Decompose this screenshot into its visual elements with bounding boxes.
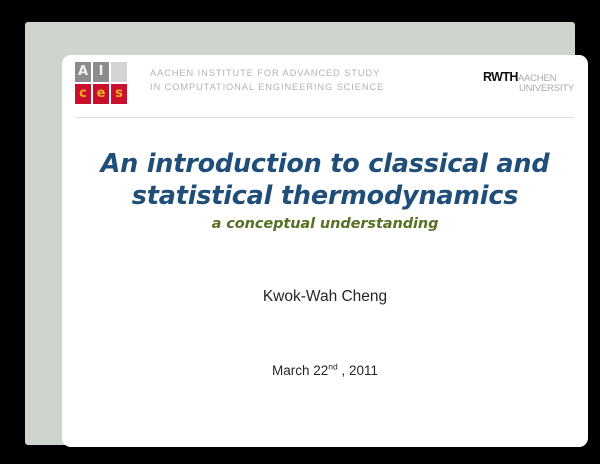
slide-title-line-2: statistical thermodynamics [62, 180, 588, 212]
aices-logo-cell-c: c [75, 84, 91, 104]
slide-date: March 22nd , 2011 [62, 363, 588, 378]
aices-logo: A I c e s [75, 62, 129, 107]
slide-author: Kwok-Wah Cheng [62, 288, 588, 306]
institute-name-line-1: AACHEN INSTITUTE FOR ADVANCED STUDY [150, 67, 384, 81]
slide-page-frame: A I c e s AACHEN INSTITUTE FOR ADVANCED … [25, 22, 575, 445]
aices-logo-cell-a: A [75, 62, 91, 82]
slide-header: A I c e s AACHEN INSTITUTE FOR ADVANCED … [62, 55, 588, 117]
slide-subtitle: a conceptual understanding [62, 215, 588, 233]
slide-date-ordinal: nd [328, 362, 337, 372]
aices-logo-cell-s: s [111, 84, 127, 104]
slide-date-suffix: , 2011 [338, 363, 378, 378]
aices-logo-row-bottom: c e s [75, 84, 129, 104]
slide-title: An introduction to classical and statist… [62, 148, 588, 233]
institute-name: AACHEN INSTITUTE FOR ADVANCED STUDY IN C… [150, 67, 384, 94]
presentation-title-slide: A I c e s AACHEN INSTITUTE FOR ADVANCED … [62, 55, 588, 447]
institute-name-line-2: IN COMPUTATIONAL ENGINEERING SCIENCE [150, 81, 384, 95]
slide-title-line-1: An introduction to classical and [62, 148, 588, 180]
aices-logo-cell-i: I [93, 62, 109, 82]
aices-logo-cell-blank [111, 62, 127, 82]
aices-logo-row-top: A I [75, 62, 129, 82]
rwth-logo-wordmark: RWTH [483, 70, 518, 84]
slide-body: An introduction to classical and statist… [62, 117, 588, 447]
rwth-logo: RWTHAACHEN UNIVERSITY [483, 72, 574, 93]
document-viewer-backdrop: A I c e s AACHEN INSTITUTE FOR ADVANCED … [0, 0, 600, 464]
aices-logo-cell-e: e [93, 84, 109, 104]
slide-date-prefix: March 22 [272, 363, 328, 378]
rwth-logo-university: UNIVERSITY [519, 84, 574, 94]
